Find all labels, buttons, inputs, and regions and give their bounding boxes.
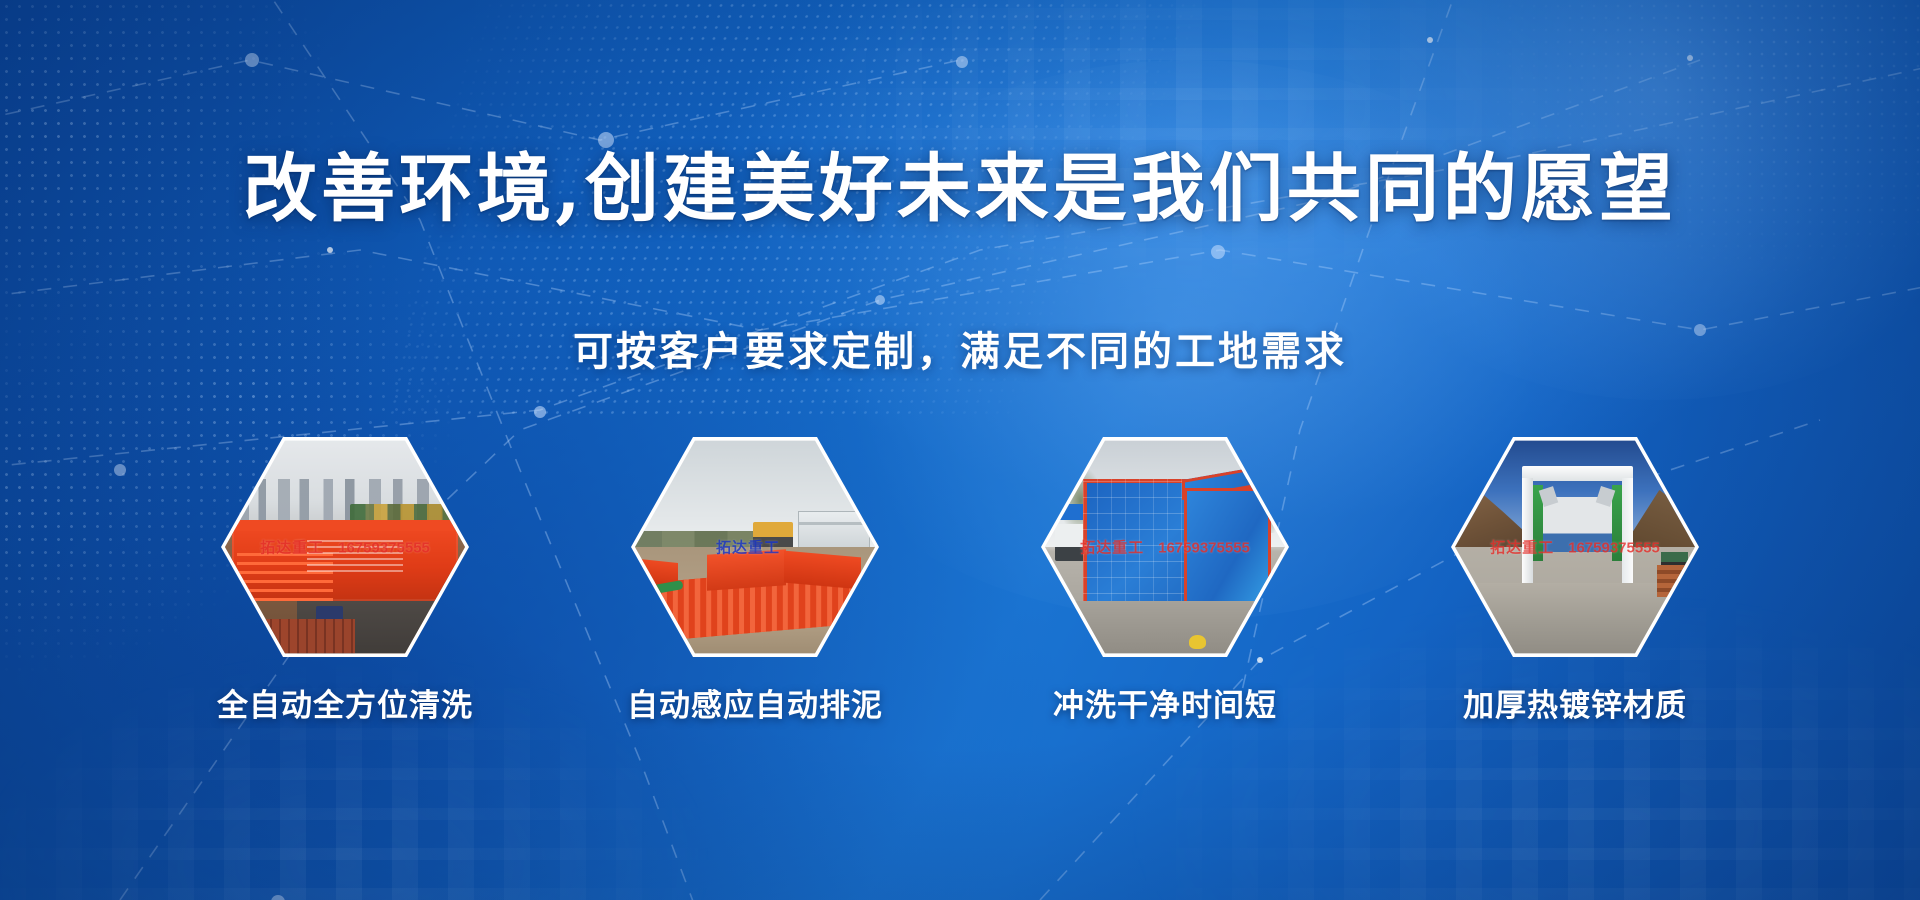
hexagon-photo-mask: 拓达重工16759375555	[1045, 434, 1285, 660]
feature-caption: 全自动全方位清洗	[217, 690, 473, 721]
feature-caption: 冲洗干净时间短	[1053, 690, 1277, 721]
promo-banner: 改善环境,创建美好未来是我们共同的愿望 可按客户要求定制，满足不同的工地需求 拓…	[0, 0, 1920, 900]
hexagon-photo-mask: 拓达重工	[635, 434, 875, 660]
page-title: 改善环境,创建美好未来是我们共同的愿望	[0, 152, 1920, 226]
photo-tunnel-wash-bay	[1045, 434, 1285, 660]
feature-card[interactable]: 拓达重工 自动感应自动排泥	[631, 430, 879, 721]
hexagon-frame: 拓达重工16759375555	[221, 430, 469, 664]
hexagon-photo-mask: 拓达重工16759375555	[1455, 434, 1695, 660]
photo-wash-station	[225, 434, 465, 660]
photo-gantry-wash-arch	[1455, 434, 1695, 660]
feature-card[interactable]: 拓达重工16759375555 冲洗干净时间短	[1041, 430, 1289, 721]
feature-card[interactable]: 拓达重工16759375555 加厚热镀锌材质	[1451, 430, 1699, 721]
hexagon-frame: 拓达重工16759375555	[1041, 430, 1289, 664]
feature-card[interactable]: 拓达重工16759375555 全自动全方位清洗	[221, 430, 469, 721]
hexagon-frame: 拓达重工	[631, 430, 879, 664]
photo-grating-platform	[635, 434, 875, 660]
page-subtitle: 可按客户要求定制，满足不同的工地需求	[0, 332, 1920, 372]
feature-caption: 加厚热镀锌材质	[1463, 690, 1687, 721]
feature-card-list: 拓达重工16759375555 全自动全方位清洗 拓达重工	[0, 430, 1920, 721]
hexagon-photo-mask: 拓达重工16759375555	[225, 434, 465, 660]
feature-caption: 自动感应自动排泥	[627, 690, 883, 721]
hexagon-frame: 拓达重工16759375555	[1451, 430, 1699, 664]
